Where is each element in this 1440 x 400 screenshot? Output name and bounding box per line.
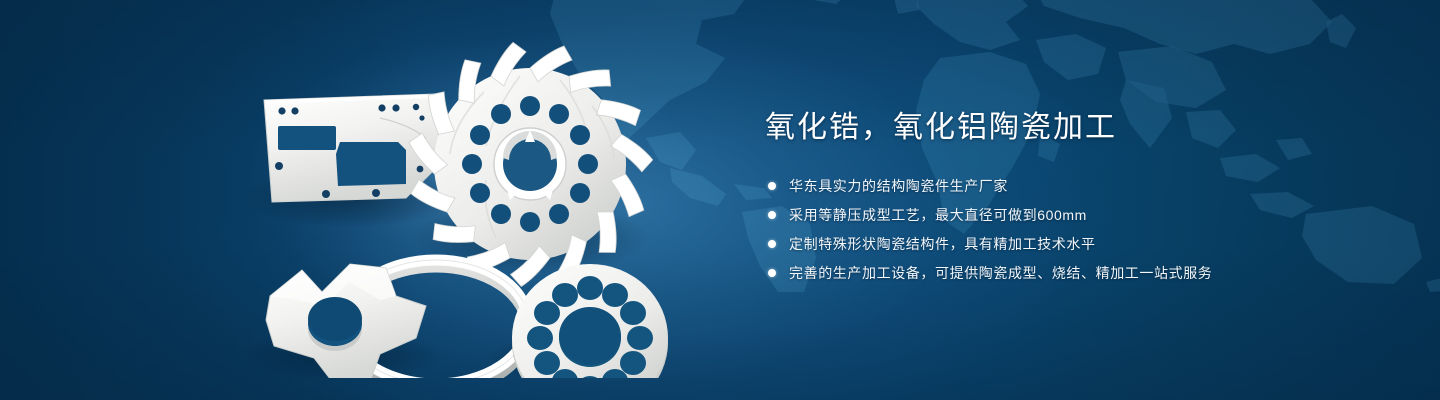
list-item-label: 定制特殊形状陶瓷结构件，具有精加工技术水平 <box>789 233 1096 255</box>
feature-list: 华东具实力的结构陶瓷件生产厂家 采用等静压成型工艺，最大直径可做到600mm 定… <box>765 175 1385 284</box>
bullet-dot-icon <box>768 240 776 248</box>
bullet-dot-icon <box>768 269 776 277</box>
list-item: 采用等静压成型工艺，最大直径可做到600mm <box>765 204 1385 226</box>
ceramic-perforated-disc <box>512 264 668 378</box>
bullet-dot-icon <box>768 182 776 190</box>
banner-copy: 氧化锆，氧化铝陶瓷加工 华东具实力的结构陶瓷件生产厂家 采用等静压成型工艺，最大… <box>765 108 1385 291</box>
bullet-dot-icon <box>768 211 776 219</box>
ceramic-processing-banner: 氧化锆，氧化铝陶瓷加工 华东具实力的结构陶瓷件生产厂家 采用等静压成型工艺，最大… <box>0 0 1440 400</box>
list-item: 完善的生产加工设备，可提供陶瓷成型、烧结、精加工一站式服务 <box>765 262 1385 284</box>
page-title: 氧化锆，氧化铝陶瓷加工 <box>765 108 1385 148</box>
list-item: 定制特殊形状陶瓷结构件，具有精加工技术水平 <box>765 233 1385 255</box>
ceramic-products-image <box>230 38 700 378</box>
list-item-label: 华东具实力的结构陶瓷件生产厂家 <box>789 175 1008 197</box>
list-item-label: 完善的生产加工设备，可提供陶瓷成型、烧结、精加工一站式服务 <box>789 262 1212 284</box>
list-item-label: 采用等静压成型工艺，最大直径可做到600mm <box>789 204 1087 226</box>
list-item: 华东具实力的结构陶瓷件生产厂家 <box>765 175 1385 197</box>
